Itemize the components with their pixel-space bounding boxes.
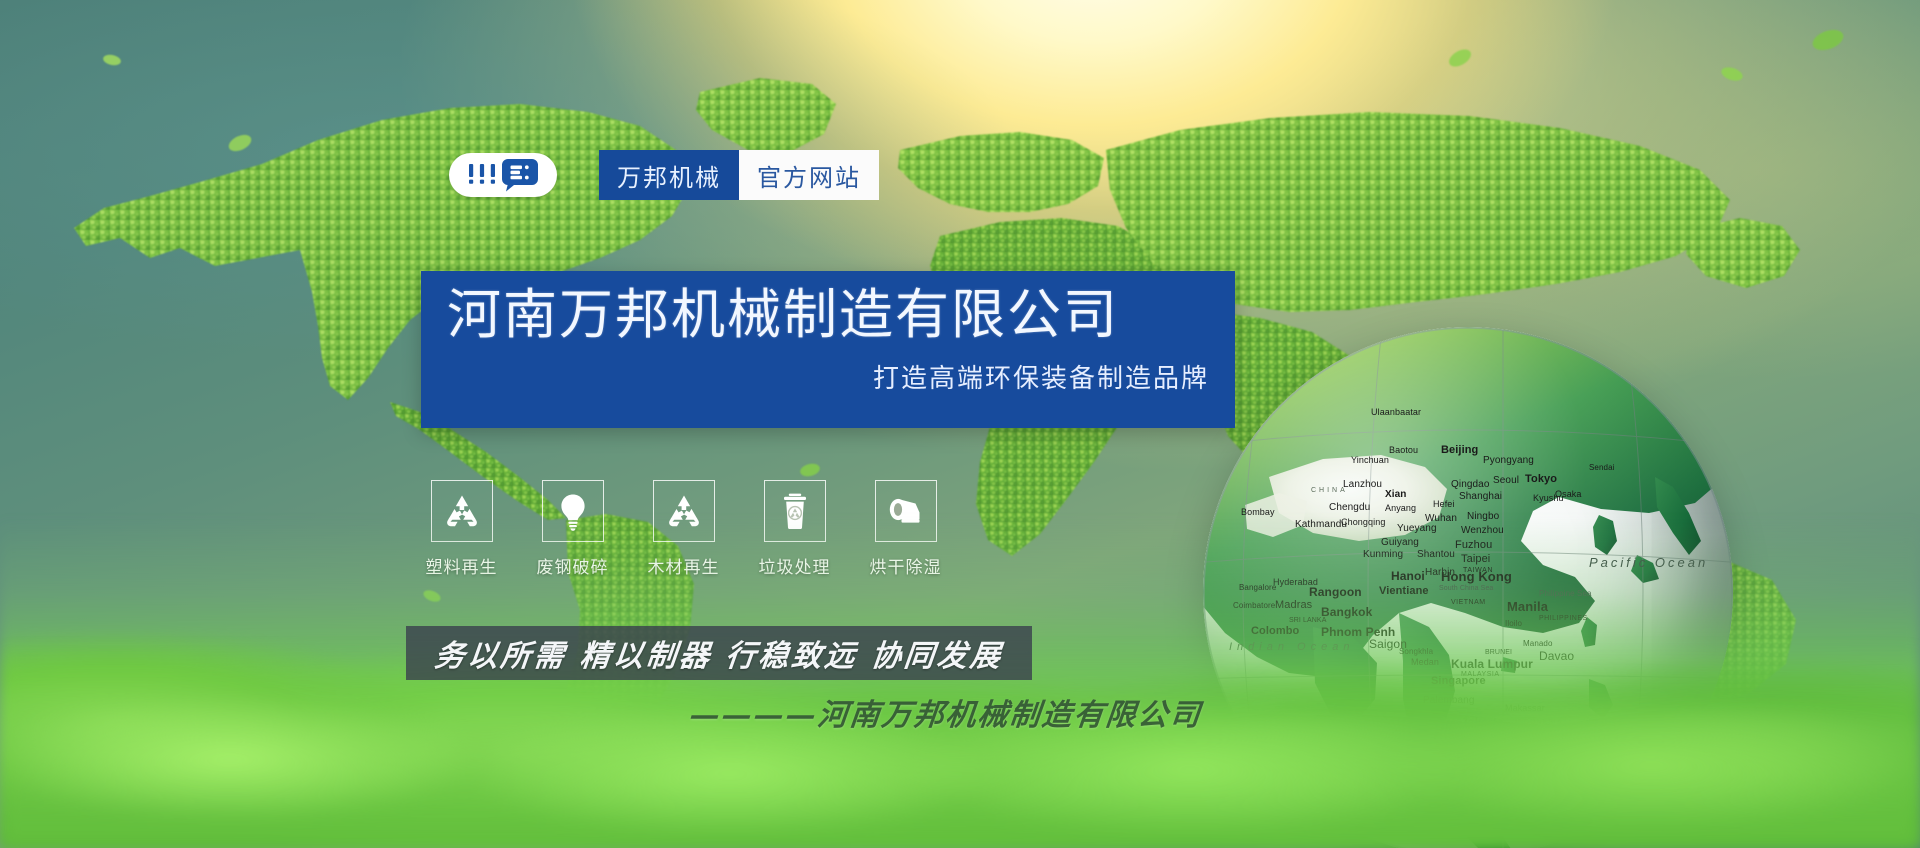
- slogan-bar: 务以所需 精以制器 行稳致远 协同发展: [406, 626, 1032, 680]
- page-title: 河南万邦机械制造有限公司: [447, 287, 1209, 344]
- nav-item-official-site[interactable]: 官方网站: [739, 150, 879, 200]
- slogan-text: 务以所需 精以制器 行稳致远 协同发展: [433, 631, 1006, 675]
- logo-b-bubble-icon: [501, 158, 539, 192]
- hero-banner: Ulaanbaatar Beijing Baotou Yinchuan Lanz…: [0, 0, 1920, 848]
- wanbang-logo[interactable]: [449, 153, 557, 197]
- site-header: 万邦机械 官方网站: [449, 150, 879, 200]
- logo-w-icon: [467, 162, 497, 188]
- nav-item-company[interactable]: 万邦机械: [599, 150, 739, 200]
- slogan-signature: ————河南万邦机械制造有限公司: [688, 690, 1173, 734]
- header-nav: 万邦机械 官方网站: [599, 150, 879, 200]
- page-subtitle: 打造高端环保装备制造品牌: [447, 358, 1209, 395]
- title-banner: 河南万邦机械制造有限公司 打造高端环保装备制造品牌: [421, 271, 1235, 428]
